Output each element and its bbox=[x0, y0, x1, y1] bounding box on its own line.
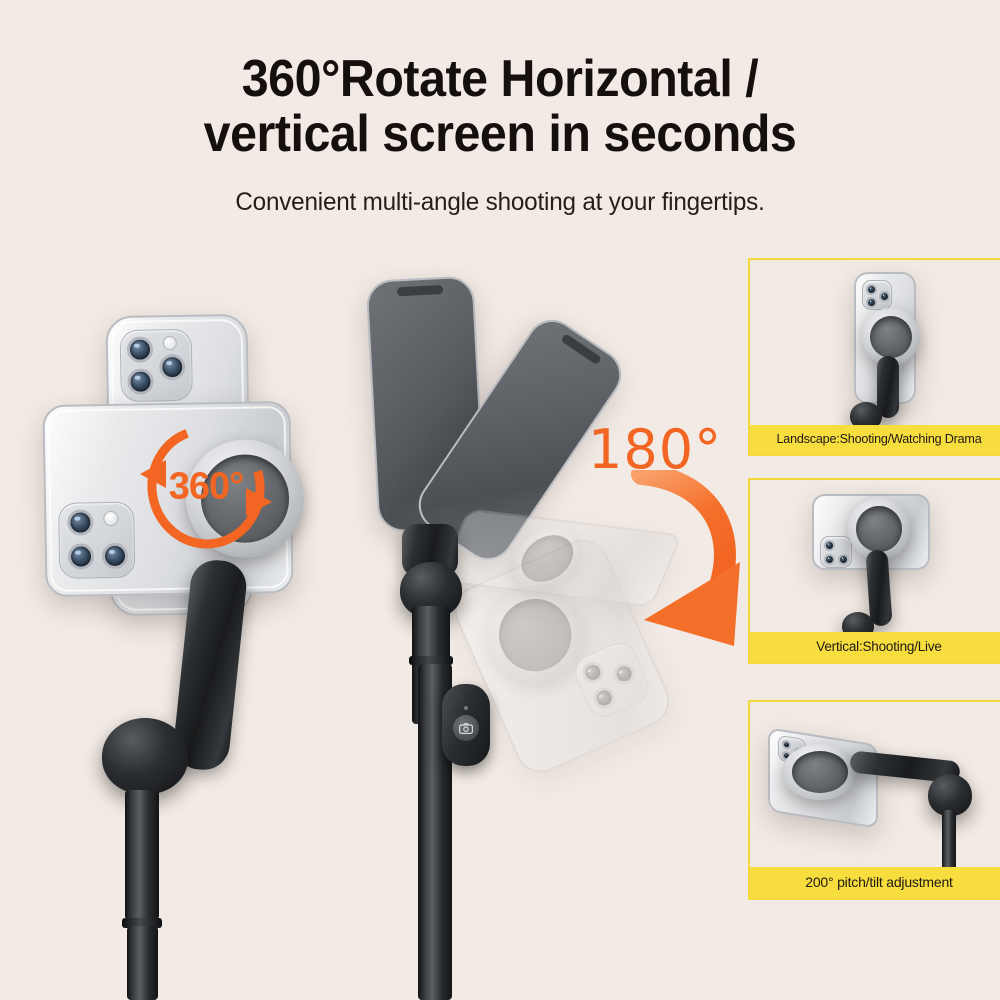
rotation-360-badge: 360° bbox=[140, 424, 272, 550]
ball-joint bbox=[102, 718, 188, 794]
camera-lens-icon bbox=[838, 554, 849, 565]
magsafe-puck-center bbox=[792, 751, 848, 792]
camera-shutter-icon bbox=[459, 723, 473, 734]
magsafe-puck-center bbox=[488, 588, 582, 682]
rotation-360-label: 360° bbox=[140, 466, 272, 509]
telescoping-pole bbox=[942, 810, 956, 870]
camera-module-icon bbox=[120, 329, 193, 402]
camera-lens-icon bbox=[824, 554, 835, 565]
feature-panel-landscape[interactable]: Landscape:Shooting/Watching Drama bbox=[748, 258, 1000, 456]
camera-lens-icon bbox=[782, 740, 791, 750]
remote-indicator-led bbox=[464, 706, 468, 710]
camera-flash-icon bbox=[163, 336, 177, 350]
panel-caption: Landscape:Shooting/Watching Drama bbox=[748, 425, 1000, 454]
camera-lens-icon bbox=[159, 354, 185, 380]
camera-lens-icon bbox=[127, 336, 153, 362]
magsafe-puck-center bbox=[514, 533, 580, 584]
feature-panel-pitch-tilt[interactable]: 200° pitch/tilt adjustment bbox=[748, 700, 1000, 900]
magsafe-puck bbox=[782, 744, 858, 800]
camera-lens-icon bbox=[866, 284, 877, 295]
camera-module-icon bbox=[820, 536, 852, 568]
headline-line-2: vertical screen in seconds bbox=[35, 107, 965, 162]
product-feature-page: 360°Rotate Horizontal / vertical screen … bbox=[0, 0, 1000, 1000]
articulating-arm bbox=[877, 356, 899, 418]
camera-lens-icon bbox=[127, 368, 153, 394]
camera-lens-icon bbox=[68, 543, 94, 569]
panel-caption: 200° pitch/tilt adjustment bbox=[748, 867, 1000, 898]
camera-module-icon bbox=[58, 502, 135, 579]
camera-module-icon bbox=[862, 280, 892, 310]
magsafe-puck-ghost bbox=[503, 524, 593, 593]
magsafe-puck-center bbox=[856, 506, 902, 552]
camera-lens-icon bbox=[824, 540, 835, 551]
camera-lens-icon bbox=[67, 509, 93, 535]
magsafe-puck-center bbox=[870, 316, 913, 359]
bluetooth-remote[interactable] bbox=[442, 684, 490, 766]
camera-lens-icon bbox=[879, 291, 890, 302]
feature-panel-vertical[interactable]: Vertical:Shooting/Live bbox=[748, 478, 1000, 664]
page-headline: 360°Rotate Horizontal / vertical screen … bbox=[35, 52, 965, 162]
camera-lens-icon bbox=[590, 684, 618, 712]
telescoping-pole-lower bbox=[127, 926, 158, 1000]
telescoping-pole-upper bbox=[125, 790, 159, 920]
curved-arrow-icon bbox=[588, 470, 748, 670]
panel-caption: Vertical:Shooting/Live bbox=[748, 632, 1000, 662]
camera-lens-icon bbox=[102, 543, 128, 569]
camera-flash-icon bbox=[103, 511, 118, 526]
page-subtitle: Convenient multi-angle shooting at your … bbox=[15, 188, 985, 217]
shutter-button[interactable] bbox=[453, 715, 479, 741]
headline-line-1: 360°Rotate Horizontal / bbox=[242, 50, 759, 108]
camera-lens-icon bbox=[866, 297, 877, 308]
